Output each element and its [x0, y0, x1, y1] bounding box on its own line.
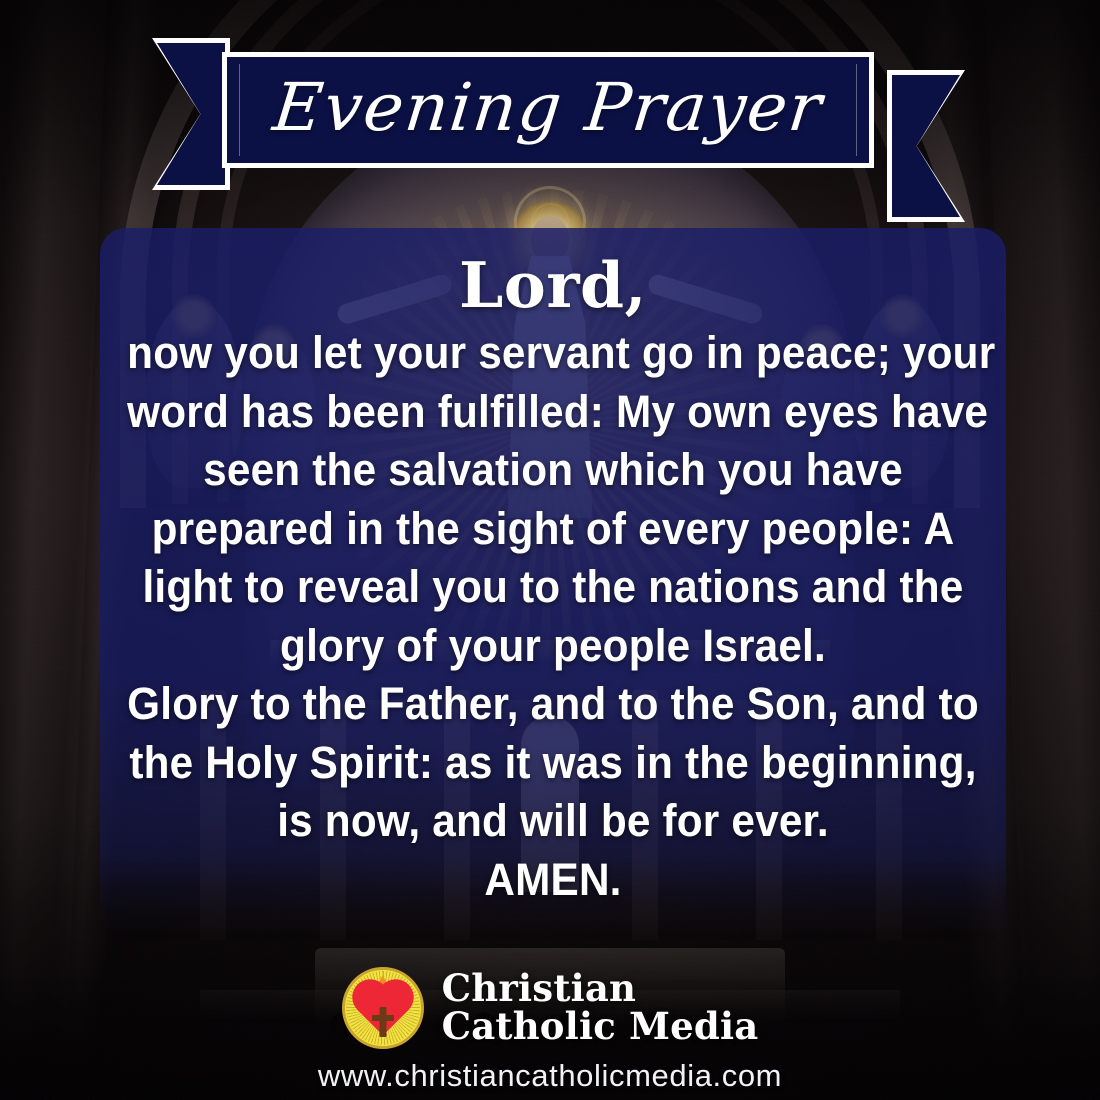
prayer-closing: AMEN.	[127, 851, 979, 910]
cross-icon	[372, 1007, 394, 1037]
prayer-line: seen the salvation which you have	[127, 441, 979, 500]
page-title: Evening Prayer	[270, 75, 826, 141]
ribbon-tail-right-icon	[887, 70, 965, 222]
brand-name: Christian Catholic Media	[442, 970, 759, 1045]
prayer-line: the Holy Spirit: as it was in the beginn…	[127, 734, 979, 793]
ribbon-tail-left-icon	[152, 38, 230, 190]
prayer-heading: Lord,	[100, 252, 1006, 318]
header-ribbon: Evening Prayer	[0, 0, 1100, 210]
prayer-content: Lord, now you let your servant go in pea…	[100, 252, 1006, 909]
ribbon-plaque: Evening Prayer	[222, 52, 874, 168]
prayer-line: glory of your people Israel.	[127, 617, 979, 676]
prayer-line: Glory to the Father, and to the Son, and…	[127, 675, 979, 734]
website-url[interactable]: www.christiancatholicmedia.com	[0, 1058, 1100, 1094]
prayer-body: now you let your servant go in peace; yo…	[127, 324, 979, 909]
evening-prayer-graphic: Evening Prayer Lord, now you let your se…	[0, 0, 1100, 1100]
prayer-line: prepared in the sight of every people: A	[127, 500, 979, 559]
brand-name-line-2: Catholic Media	[442, 1008, 759, 1046]
prayer-line: now you let your servant go in peace; yo…	[127, 324, 979, 383]
prayer-line: light to reveal you to the nations and t…	[127, 558, 979, 617]
brand-lockup[interactable]: Christian Catholic Media	[0, 958, 1100, 1058]
prayer-line: is now, and will be for ever.	[127, 792, 979, 851]
ribbon-plaque-inner: Evening Prayer	[227, 57, 869, 163]
prayer-line: word has been fulfilled: My own eyes hav…	[127, 383, 979, 442]
brand-name-line-1: Christian	[442, 970, 759, 1008]
sacred-heart-sunburst-icon	[342, 967, 424, 1049]
